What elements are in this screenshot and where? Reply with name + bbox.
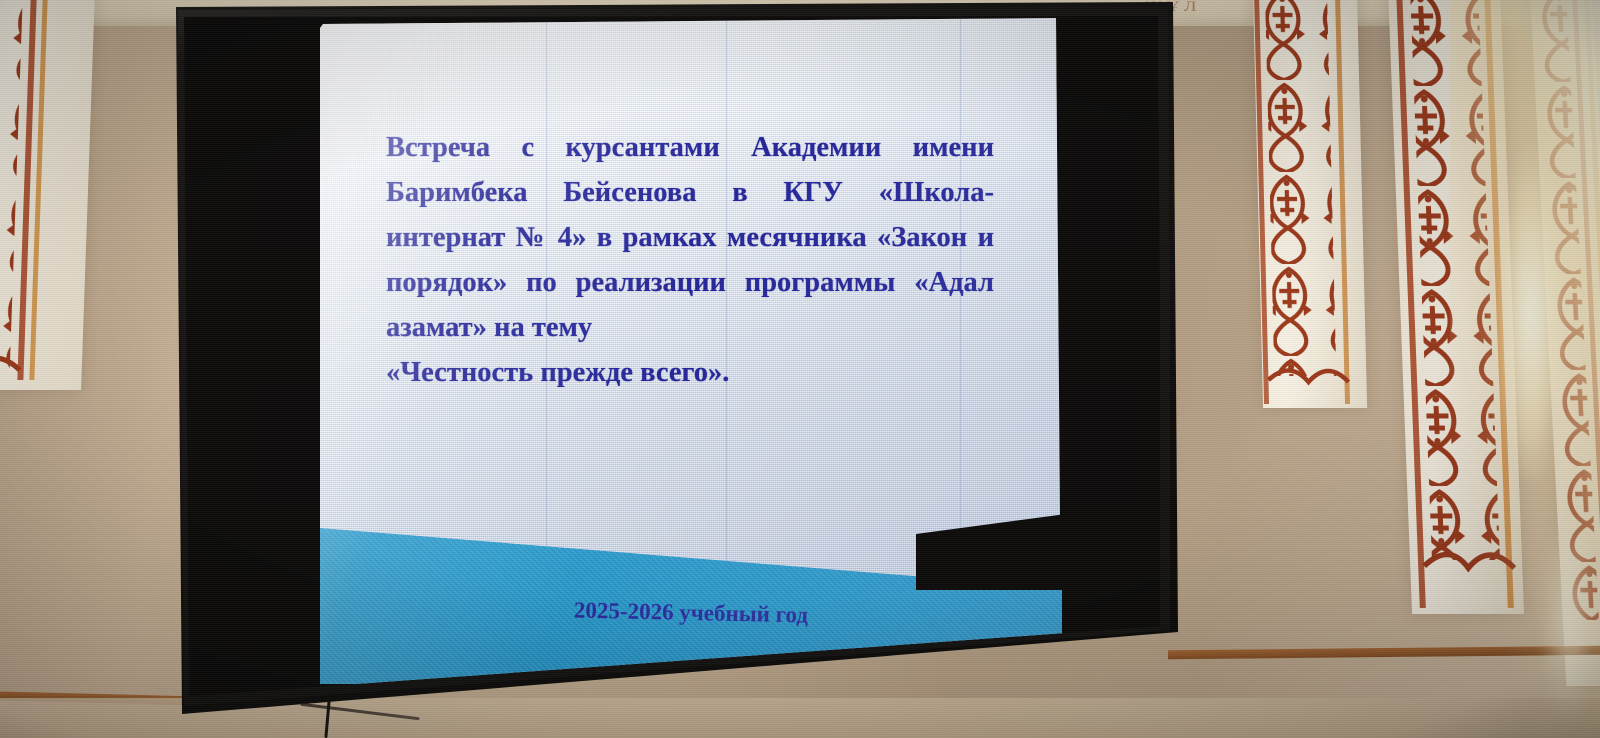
wall-ornament-panel-right-1 xyxy=(1253,0,1367,408)
photo-scene: ЖҰЛ xyxy=(0,0,1600,738)
kazakh-ornament-icon xyxy=(1253,0,1367,408)
wall-ornament-panel-left xyxy=(0,0,95,390)
slide-paragraph: Встреча с курсантами Академии имени Бари… xyxy=(386,132,994,343)
sunlight-hotspot xyxy=(1500,150,1562,480)
kazakh-ornament-icon xyxy=(0,0,95,390)
display-screen[interactable]: Встреча с курсантами Академии имени Бари… xyxy=(180,14,1160,696)
sunlight-hotspot-lower xyxy=(1544,520,1594,720)
slide-body-text: Встреча с курсантами Академии имени Бари… xyxy=(386,125,994,395)
slide-paragraph-last-line: «Честность прежде всего». xyxy=(386,350,994,395)
